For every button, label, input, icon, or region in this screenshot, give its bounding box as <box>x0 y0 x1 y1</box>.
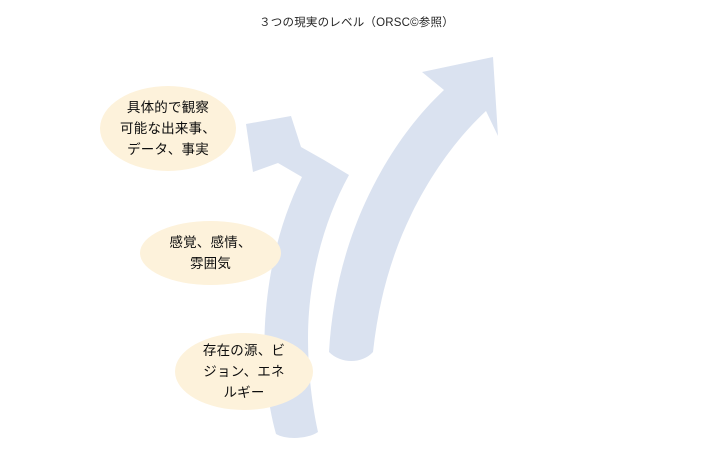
arrows-layer <box>0 0 713 457</box>
bubble-feelings-label: 感覚、感情、 雰囲気 <box>148 232 273 274</box>
bubble-events-label: 具体的で観察 可能な出来事、 データ、事実 <box>108 97 228 160</box>
curved-arrow-right <box>329 57 498 361</box>
bubble-feelings: 感覚、感情、 雰囲気 <box>140 221 281 285</box>
bubble-events: 具体的で観察 可能な出来事、 データ、事実 <box>100 86 236 171</box>
bubble-essence-label: 存在の源、ビ ジョン、エネ ルギー <box>183 340 305 403</box>
diagram-canvas: ３つの現実のレベル（ORSC©参照） 具体的で観察 可能な出来事、 データ、事実… <box>0 0 713 457</box>
bubble-essence: 存在の源、ビ ジョン、エネ ルギー <box>175 333 313 410</box>
